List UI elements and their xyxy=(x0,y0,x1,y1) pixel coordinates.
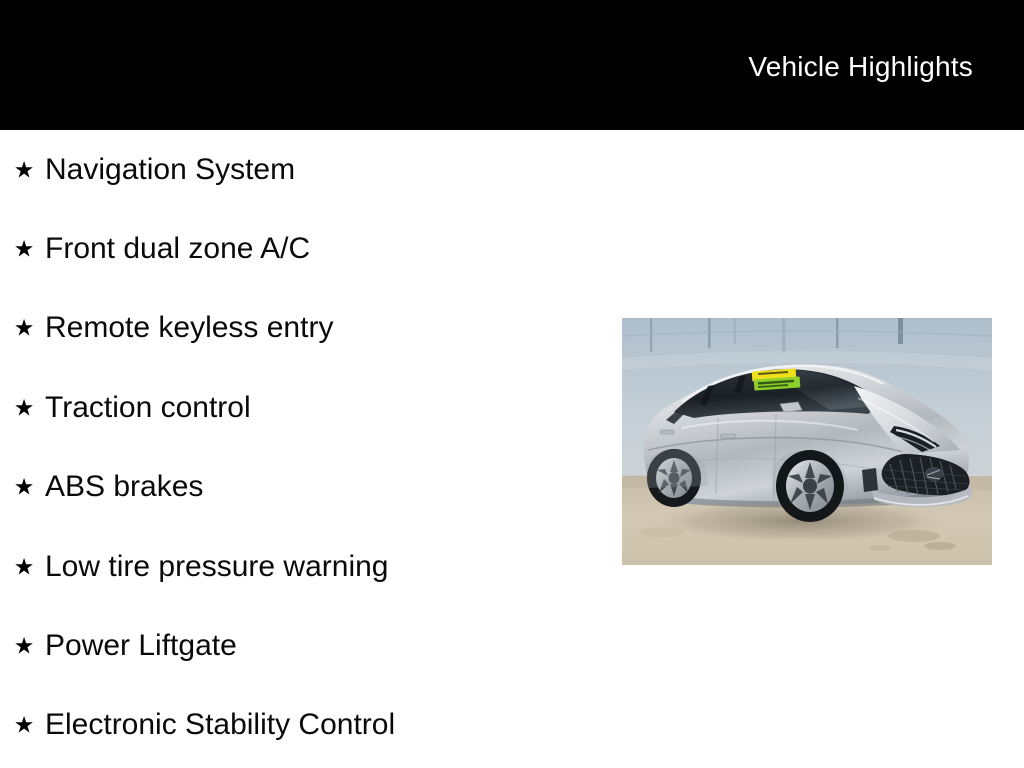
star-icon: ★ xyxy=(12,714,36,737)
list-item: ★ Low tire pressure warning xyxy=(0,527,600,606)
vehicle-photo-illustration xyxy=(622,318,992,565)
list-item: ★ Power Liftgate xyxy=(0,606,600,685)
list-item: ★ ABS brakes xyxy=(0,448,600,527)
header-bar: Vehicle Highlights xyxy=(0,0,1024,130)
list-item: ★ Front dual zone A/C xyxy=(0,209,600,288)
star-icon: ★ xyxy=(12,555,36,578)
list-item: ★ Navigation System xyxy=(0,130,600,209)
list-item: ★ Electronic Stability Control xyxy=(0,686,600,765)
highlight-label: ABS brakes xyxy=(45,470,203,504)
vehicle-photo xyxy=(622,318,992,565)
star-icon: ★ xyxy=(12,238,36,261)
page-title: Vehicle Highlights xyxy=(748,50,973,84)
front-wheel xyxy=(776,450,844,522)
star-icon: ★ xyxy=(12,396,36,419)
star-icon: ★ xyxy=(12,635,36,658)
highlight-label: Electronic Stability Control xyxy=(45,708,395,742)
windshield-sticker xyxy=(752,368,801,390)
list-item: ★ Remote keyless entry xyxy=(0,289,600,368)
vehicle-highlights-list: ★ Navigation System ★ Front dual zone A/… xyxy=(0,130,600,765)
highlight-label: Front dual zone A/C xyxy=(45,232,310,266)
list-item: ★ Traction control xyxy=(0,368,600,447)
highlight-label: Low tire pressure warning xyxy=(45,550,389,584)
highlight-label: Traction control xyxy=(45,391,251,425)
star-icon: ★ xyxy=(12,158,36,181)
highlight-label: Navigation System xyxy=(45,153,295,187)
star-icon: ★ xyxy=(12,476,36,499)
highlight-label: Power Liftgate xyxy=(45,629,237,663)
star-icon: ★ xyxy=(12,317,36,340)
highlight-label: Remote keyless entry xyxy=(45,311,333,345)
